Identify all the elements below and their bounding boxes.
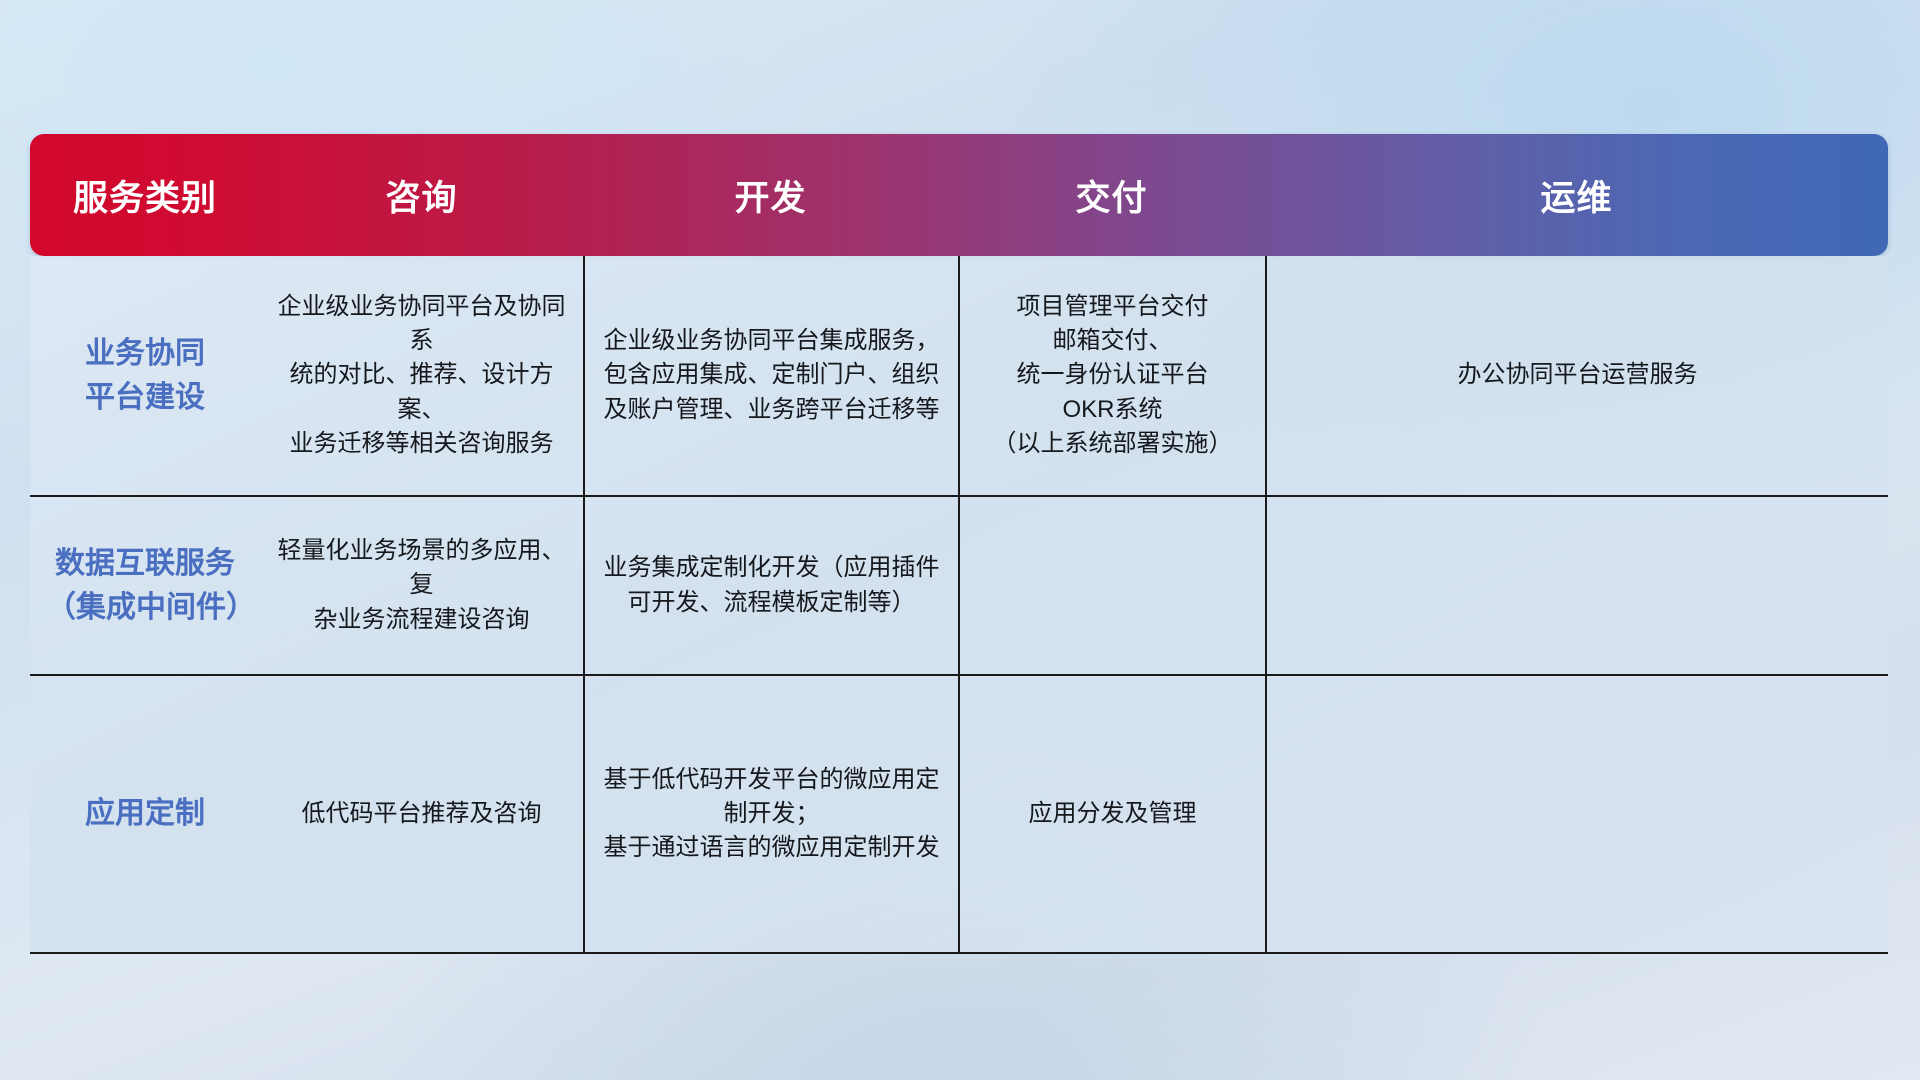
cell-delivery: [958, 497, 1265, 674]
column-header-consulting: 咨询: [260, 170, 583, 221]
cell-operations: [1265, 676, 1888, 952]
column-header-delivery: 交付: [958, 170, 1265, 221]
column-header-development: 开发: [583, 170, 958, 221]
table-row: 业务协同 平台建设 企业级业务协同平台及协同系 统的对比、推荐、设计方案、 业务…: [30, 256, 1888, 495]
service-matrix-table: 服务类别 咨询 开发 交付 运维 业务协同 平台建设 企业级业务协同平台及协同系…: [30, 134, 1888, 954]
cell-operations: [1265, 497, 1888, 674]
cell-consulting: 企业级业务协同平台及协同系 统的对比、推荐、设计方案、 业务迁移等相关咨询服务: [260, 256, 583, 495]
table-header-row: 服务类别 咨询 开发 交付 运维: [30, 134, 1888, 256]
table-row: 数据互联服务 （集成中间件） 轻量化业务场景的多应用、复 杂业务流程建设咨询 业…: [30, 495, 1888, 674]
cell-consulting: 轻量化业务场景的多应用、复 杂业务流程建设咨询: [260, 497, 583, 674]
cell-operations: 办公协同平台运营服务: [1265, 256, 1888, 495]
cell-delivery: 应用分发及管理: [958, 676, 1265, 952]
table-body: 业务协同 平台建设 企业级业务协同平台及协同系 统的对比、推荐、设计方案、 业务…: [30, 256, 1888, 954]
cell-consulting: 低代码平台推荐及咨询: [260, 676, 583, 952]
table-row: 应用定制 低代码平台推荐及咨询 基于低代码开发平台的微应用定 制开发； 基于通过…: [30, 674, 1888, 952]
cell-development: 业务集成定制化开发（应用插件 可开发、流程模板定制等）: [583, 497, 958, 674]
row-category-label: 应用定制: [30, 676, 260, 952]
row-category-label: 业务协同 平台建设: [30, 256, 260, 495]
row-category-label: 数据互联服务 （集成中间件）: [30, 497, 260, 674]
cell-development: 基于低代码开发平台的微应用定 制开发； 基于通过语言的微应用定制开发: [583, 676, 958, 952]
column-header-operations: 运维: [1265, 170, 1888, 221]
slide-canvas: 服务类别 咨询 开发 交付 运维 业务协同 平台建设 企业级业务协同平台及协同系…: [0, 0, 1920, 1080]
column-header-service-category: 服务类别: [30, 170, 260, 221]
cell-delivery: 项目管理平台交付 邮箱交付、 统一身份认证平台 OKR系统 （以上系统部署实施）: [958, 256, 1265, 495]
cell-development: 企业级业务协同平台集成服务， 包含应用集成、定制门户、组织 及账户管理、业务跨平…: [583, 256, 958, 495]
